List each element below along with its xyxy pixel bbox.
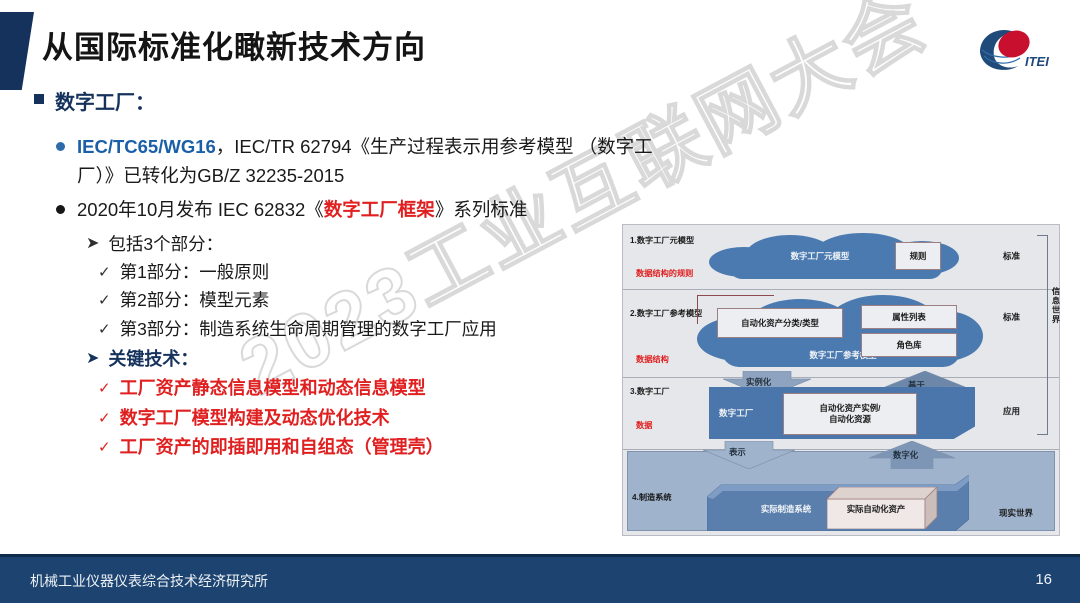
sub-parts-title-row: ➤ 包括3个部分： (86, 231, 654, 257)
manufacturing-system-label: 实际制造系统 (731, 503, 841, 515)
page-title: 从国际标准化瞰新技术方向 (42, 22, 426, 67)
digital-factory-framework-diagram: 1.数字工厂元模型 数据结构的规则 数字工厂元模型 规则 标准 2.数字工厂参考… (622, 224, 1060, 536)
title-accent-shape (0, 12, 34, 90)
section-heading: 数字工厂： (55, 86, 155, 115)
representation-arrow-label: 表示 (729, 446, 746, 458)
itei-logo: ITEI (970, 22, 1062, 74)
info-world-label: 信息世界 (1049, 287, 1061, 324)
diagram-left-label-5: 3.数字工厂 (630, 385, 670, 397)
sub-parts-title: 包括3个部分： (108, 231, 223, 257)
key-tech-title-row: ➤ 关键技术： (86, 346, 654, 373)
part-item: ✓ 第2部分：模型元素 (98, 287, 654, 314)
meta-model-cloud-label: 数字工厂元模型 (755, 250, 885, 262)
bullet-item-2: 2020年10月发布 IEC 62832《数字工厂框架》系列标准 (56, 196, 654, 225)
part-label: 第3部分：制造系统生命周期管理的数字工厂应用 (120, 316, 497, 343)
diagram-left-label-6: 数据 (636, 419, 652, 431)
dot-bullet-icon (56, 142, 65, 151)
key-tech-label: 工厂资产静态信息模型和动态信息模型 (120, 375, 426, 403)
diagram-right-label-4: 现实世界 (999, 507, 1033, 519)
digitization-arrow-label: 数字化 (893, 449, 918, 461)
bullet-item-1: IEC/TC65/WG16，IEC/TR 62794《生产过程表示用参考模型 （… (56, 133, 654, 190)
diagram-right-label-2: 标准 (1003, 311, 1020, 323)
key-tech-title: 关键技术： (108, 346, 198, 373)
bullet-1-text: IEC/TC65/WG16，IEC/TR 62794《生产过程表示用参考模型 （… (77, 133, 654, 190)
part-label: 第1部分：一般原则 (120, 259, 270, 286)
diagram-divider (623, 377, 1059, 378)
diagram-left-label-7: 4.制造系统 (632, 491, 672, 503)
bullet-2-pre: 2020年10月发布 IEC 62832《 (77, 199, 324, 220)
role-library-box: 角色库 (861, 333, 957, 357)
connector-line (697, 295, 774, 324)
info-world-bracket (1037, 235, 1048, 435)
digital-factory-label: 数字工厂 (719, 407, 753, 419)
footer-organization: 机械工业仪器仪表综合技术经济研究所 (30, 571, 268, 591)
diagram-divider (623, 449, 1059, 450)
chevron-right-icon: ➤ (86, 232, 99, 256)
slide-footer: 机械工业仪器仪表综合技术经济研究所 16 (0, 554, 1080, 603)
diagram-right-label-3: 应用 (1003, 405, 1020, 417)
key-tech-item: ✓ 工厂资产静态信息模型和动态信息模型 (98, 375, 654, 403)
check-icon: ✓ (98, 436, 111, 459)
diagram-divider (623, 289, 1059, 290)
diagram-left-label-1: 1.数字工厂元模型 (630, 234, 694, 246)
iec-wg-label: IEC/TC65/WG16 (77, 136, 216, 157)
chevron-right-icon: ➤ (86, 347, 99, 371)
dot-bullet-icon (56, 205, 65, 214)
check-icon: ✓ (98, 318, 111, 341)
key-tech-item: ✓ 数字工厂模型构建及动态优化技术 (98, 405, 654, 433)
footer-page-number: 16 (1035, 571, 1052, 588)
svg-text:ITEI: ITEI (1025, 54, 1049, 69)
key-tech-label: 数字工厂模型构建及动态优化技术 (120, 405, 390, 433)
diagram-left-label-2: 数据结构的规则 (636, 267, 693, 279)
bullet-2-red: 数字工厂框架 (324, 199, 435, 220)
bullet-2-post: 》系列标准 (435, 199, 528, 220)
itei-logo-icon: ITEI (970, 22, 1062, 74)
diagram-left-label-4: 数据结构 (636, 353, 669, 365)
check-icon: ✓ (98, 377, 111, 400)
real-asset-label: 实际自动化资产 (829, 501, 923, 517)
square-bullet-icon (34, 94, 44, 104)
instantiation-arrow-label: 实例化 (746, 376, 771, 388)
section-heading-row: 数字工厂： (34, 86, 654, 115)
part-item: ✓ 第1部分：一般原则 (98, 259, 654, 286)
check-icon: ✓ (98, 261, 111, 284)
asset-instance-line1: 自动化资产实例/ (820, 403, 881, 414)
bullet-2-text: 2020年10月发布 IEC 62832《数字工厂框架》系列标准 (77, 196, 527, 225)
diagram-right-label-1: 标准 (1003, 250, 1020, 262)
key-tech-item: ✓ 工厂资产的即插即用和自组态（管理壳） (98, 434, 654, 462)
part-item: ✓ 第3部分：制造系统生命周期管理的数字工厂应用 (98, 316, 654, 343)
asset-instance-box: 自动化资产实例/ 自动化资源 (783, 393, 917, 435)
diagram-left-label-3: 2.数字工厂参考模型 (630, 307, 702, 319)
representation-arrow (703, 441, 795, 469)
part-label: 第2部分：模型元素 (120, 287, 270, 314)
attribute-list-box: 属性列表 (861, 305, 957, 329)
key-tech-label: 工厂资产的即插即用和自组态（管理壳） (120, 434, 444, 462)
rule-box: 规则 (895, 242, 941, 270)
slide-body: 数字工厂： IEC/TC65/WG16，IEC/TR 62794《生产过程表示用… (34, 86, 654, 463)
check-icon: ✓ (98, 407, 111, 430)
asset-instance-line2: 自动化资源 (829, 414, 871, 425)
check-icon: ✓ (98, 289, 111, 312)
